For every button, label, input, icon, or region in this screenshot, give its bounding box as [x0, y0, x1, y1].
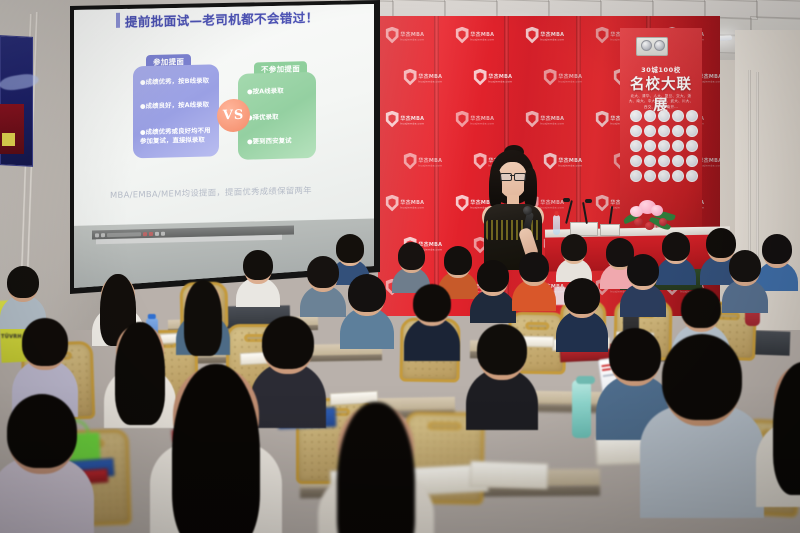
slide-right-bullet-1: ●按A线录取 — [247, 86, 311, 97]
backdrop-brand-logo: 华杰MBAhuajiemba.com — [404, 153, 443, 170]
brand-logo-name: 华杰MBA — [418, 156, 442, 163]
slide-left-bullet-2: ●成绩良好，按A线录取 — [140, 100, 212, 111]
emergency-light-lens-left — [641, 40, 652, 51]
brand-logo-name: 华杰MBA — [558, 72, 582, 79]
brand-crest-icon — [596, 27, 609, 44]
presentation-slide: 提前批面试—老司机都不会错过！ 参加提面 不参加提面 ●成绩优秀，按B线录取 ●… — [68, 4, 374, 228]
open-notebook — [470, 461, 549, 490]
backdrop-brand-logo: 华杰MBAhuajiemba.com — [386, 111, 425, 128]
brand-logo-sub: huajiemba.com — [558, 163, 582, 167]
audience-hair — [22, 318, 68, 366]
emergency-light — [636, 37, 668, 56]
banner-school-logo — [658, 155, 670, 167]
table-mic-head-1 — [563, 198, 570, 202]
brand-crest-icon — [526, 27, 539, 44]
brand-logo-name: 华杰MBA — [540, 114, 564, 121]
toolbar-more-icon[interactable] — [161, 231, 165, 235]
brand-crest-icon — [526, 111, 539, 128]
brand-logo-name: 华杰MBA — [558, 156, 582, 163]
audience-member — [512, 254, 556, 318]
brand-logo-name: 华杰MBA — [400, 30, 424, 37]
brand-crest-icon — [596, 195, 609, 212]
brand-logo-sub: huajiemba.com — [540, 121, 564, 125]
slide-right-bullet-3: ●要到西安复试 — [247, 136, 311, 147]
audience-member — [150, 366, 282, 533]
brand-logo-name: 华杰MBA — [418, 72, 442, 79]
banner-school-logo — [644, 155, 656, 167]
bottle-cap — [148, 314, 156, 319]
audience-member — [466, 326, 538, 442]
banner-school-logo — [686, 110, 698, 122]
backdrop-brand-logo: 华杰MBAhuajiemba.com — [474, 69, 513, 86]
audience-member — [340, 276, 394, 358]
banner-school-logo — [630, 110, 642, 122]
slide-title: 提前批面试—老司机都不会错过！ — [125, 7, 319, 31]
banner-school-logo — [672, 125, 684, 137]
av-equipment-box-2 — [600, 224, 620, 236]
banner-school-logo — [658, 125, 670, 137]
slide-right-bullet-2: ●择优录取 — [247, 112, 311, 123]
slide-left-bullet-1: ●成绩优秀，按B线录取 — [140, 76, 212, 87]
banner-school-logo — [686, 155, 698, 167]
banner-school-logo — [658, 140, 670, 152]
flower-rose-2 — [645, 222, 654, 230]
audience-hair — [172, 364, 260, 533]
table-flower-arrangement — [625, 196, 675, 236]
brand-logo-name: 华杰MBA — [470, 114, 494, 121]
emergency-light-lens-right — [654, 40, 665, 51]
audience-hair — [7, 394, 77, 468]
flower-bloom-2 — [630, 206, 643, 217]
backdrop-brand-logo: 华杰MBAhuajiemba.com — [456, 111, 495, 128]
table-mic-head-2 — [585, 199, 592, 203]
thermos-teal — [572, 380, 591, 438]
flower-bloom-3 — [651, 205, 663, 216]
audience-hair — [262, 316, 314, 369]
brand-logo-sub: huajiemba.com — [418, 79, 442, 83]
audience-member — [404, 286, 460, 370]
brand-crest-icon — [404, 69, 417, 86]
banner-school-logo — [644, 170, 656, 182]
banner-school-logo — [658, 110, 670, 122]
brand-crest-icon — [474, 69, 487, 86]
brand-logo-sub: huajiemba.com — [400, 121, 424, 125]
audience-hair — [398, 242, 425, 270]
brand-logo-sub: huajiemba.com — [470, 37, 494, 41]
banner-school-logo — [644, 140, 656, 152]
audience-member — [470, 262, 516, 330]
audience-hair — [662, 334, 742, 420]
slide-left-bullet-3: ●成绩优秀或良好均不用参加复试，直接拟录取 — [140, 126, 214, 146]
audience-hair — [348, 274, 386, 312]
audience-hair — [681, 288, 721, 328]
banner-school-logo — [686, 125, 698, 137]
brand-logo-name: 华杰MBA — [400, 198, 424, 205]
audience-hair — [561, 234, 587, 261]
banner-headline: 名校大联展 — [626, 73, 696, 115]
banner-school-logo — [672, 110, 684, 122]
brand-logo-name: 华杰MBA — [488, 72, 512, 79]
slide-title-accent-bar — [116, 13, 120, 28]
flower-rose-1 — [634, 218, 643, 226]
audience-member — [756, 364, 800, 522]
audience-hair — [564, 278, 600, 314]
audience-hair — [729, 250, 761, 282]
toolbar-stop-icon[interactable] — [149, 231, 153, 235]
backdrop-brand-logo: 华杰MBAhuajiemba.com — [456, 27, 495, 44]
brand-logo-name: 华杰MBA — [470, 30, 494, 37]
audience-member — [640, 336, 764, 533]
banner-school-logo — [644, 110, 656, 122]
brand-logo-name: 华杰MBA — [540, 30, 564, 37]
audience-hair — [413, 284, 451, 322]
banner-school-logo — [672, 170, 684, 182]
toolbar-pen-icon[interactable] — [101, 233, 105, 237]
brand-crest-icon — [456, 195, 469, 212]
backdrop-brand-logo: 华杰MBAhuajiemba.com — [386, 27, 425, 44]
brand-logo-sub: huajiemba.com — [400, 205, 424, 209]
flower-rose-3 — [659, 218, 667, 226]
brand-logo-sub: huajiemba.com — [418, 163, 442, 167]
brand-crest-icon — [456, 111, 469, 128]
wall-poster-yellow-tag — [2, 133, 15, 146]
brand-crest-icon — [386, 27, 399, 44]
backdrop-brand-logo: 华杰MBAhuajiemba.com — [544, 69, 583, 86]
banner-school-logo — [630, 125, 642, 137]
brand-logo-sub: huajiemba.com — [400, 37, 424, 41]
audience-member — [236, 252, 280, 314]
audience-member — [176, 282, 230, 364]
speaker-microphone-head — [523, 206, 532, 215]
brand-logo-sub: huajiemba.com — [488, 79, 512, 83]
brand-crest-icon — [404, 153, 417, 170]
banner-school-logo — [630, 170, 642, 182]
slide-footer-note: MBA/EMBA/MEM均设提面，提面优秀成绩保留两年 — [110, 184, 312, 201]
brand-crest-icon — [456, 27, 469, 44]
backdrop-brand-logo: 华杰MBAhuajiemba.com — [526, 27, 565, 44]
audience-hair — [477, 324, 527, 375]
toolbar-pointer-icon[interactable] — [95, 233, 99, 237]
backdrop-brand-logo: 华杰MBAhuajiemba.com — [386, 195, 425, 212]
audience-hair — [444, 246, 472, 275]
toolbar-slider[interactable] — [107, 232, 141, 237]
projection-screen: 提前批面试—老司机都不会错过！ 参加提面 不参加提面 ●成绩优秀，按B线录取 ●… — [68, 4, 374, 288]
brand-crest-icon — [386, 111, 399, 128]
toolbar-grid-icon[interactable] — [155, 231, 159, 235]
slide-vs-label: VS — [223, 108, 244, 124]
audience-hair — [662, 232, 690, 261]
slide-card-attend: ●成绩优秀，按B线录取 ●成绩良好，按A线录取 ●成绩优秀或良好均不用参加复试，… — [133, 64, 219, 158]
brand-logo-name: 华杰MBA — [400, 114, 424, 121]
banner-school-logo — [686, 170, 698, 182]
audience-hair — [307, 256, 339, 288]
banner-subline: 北大、清华、人大、复旦、交大、浙大、南大、中大、同济、武大、川大、西交、厦大、南… — [628, 94, 694, 110]
speaker-glasses-right — [514, 173, 526, 181]
audience-hair — [627, 254, 659, 286]
banner-school-logo — [672, 140, 684, 152]
audience-member — [318, 404, 434, 533]
brand-logo-sub: huajiemba.com — [558, 79, 582, 83]
banner-school-logo — [672, 155, 684, 167]
banner-school-logos — [630, 110, 692, 182]
brand-logo-sub: huajiemba.com — [470, 121, 494, 125]
brand-crest-icon — [596, 111, 609, 128]
speaker-presenter — [470, 150, 556, 270]
audience-hair — [243, 250, 273, 280]
audience-hair — [519, 252, 549, 282]
audience-hair — [477, 260, 509, 292]
wall-poster-red-panel — [0, 104, 24, 154]
audience-member — [0, 396, 94, 533]
audience-hair — [184, 280, 222, 356]
banner-school-logo — [644, 125, 656, 137]
toolbar-record-icon[interactable] — [143, 232, 147, 236]
brand-crest-icon — [386, 195, 399, 212]
lecture-hall-photo: 华杰MBAhuajiemba.com华杰MBAhuajiemba.com华杰MB… — [0, 0, 800, 533]
banner-kicker: 30城100校 — [630, 64, 692, 74]
thermos-lid — [576, 376, 595, 384]
backdrop-brand-logo: 华杰MBAhuajiemba.com — [526, 111, 565, 128]
banner-school-logo — [630, 155, 642, 167]
brand-crest-icon — [544, 69, 557, 86]
banner-school-logo — [658, 170, 670, 182]
backdrop-brand-logo: 华杰MBAhuajiemba.com — [404, 69, 443, 86]
banner-school-logo — [686, 140, 698, 152]
audience-hair — [7, 266, 39, 298]
banner-school-logo — [630, 140, 642, 152]
audience-member — [620, 256, 666, 324]
brand-logo-sub: huajiemba.com — [540, 37, 564, 41]
speaker-glasses-bridge — [510, 175, 514, 176]
